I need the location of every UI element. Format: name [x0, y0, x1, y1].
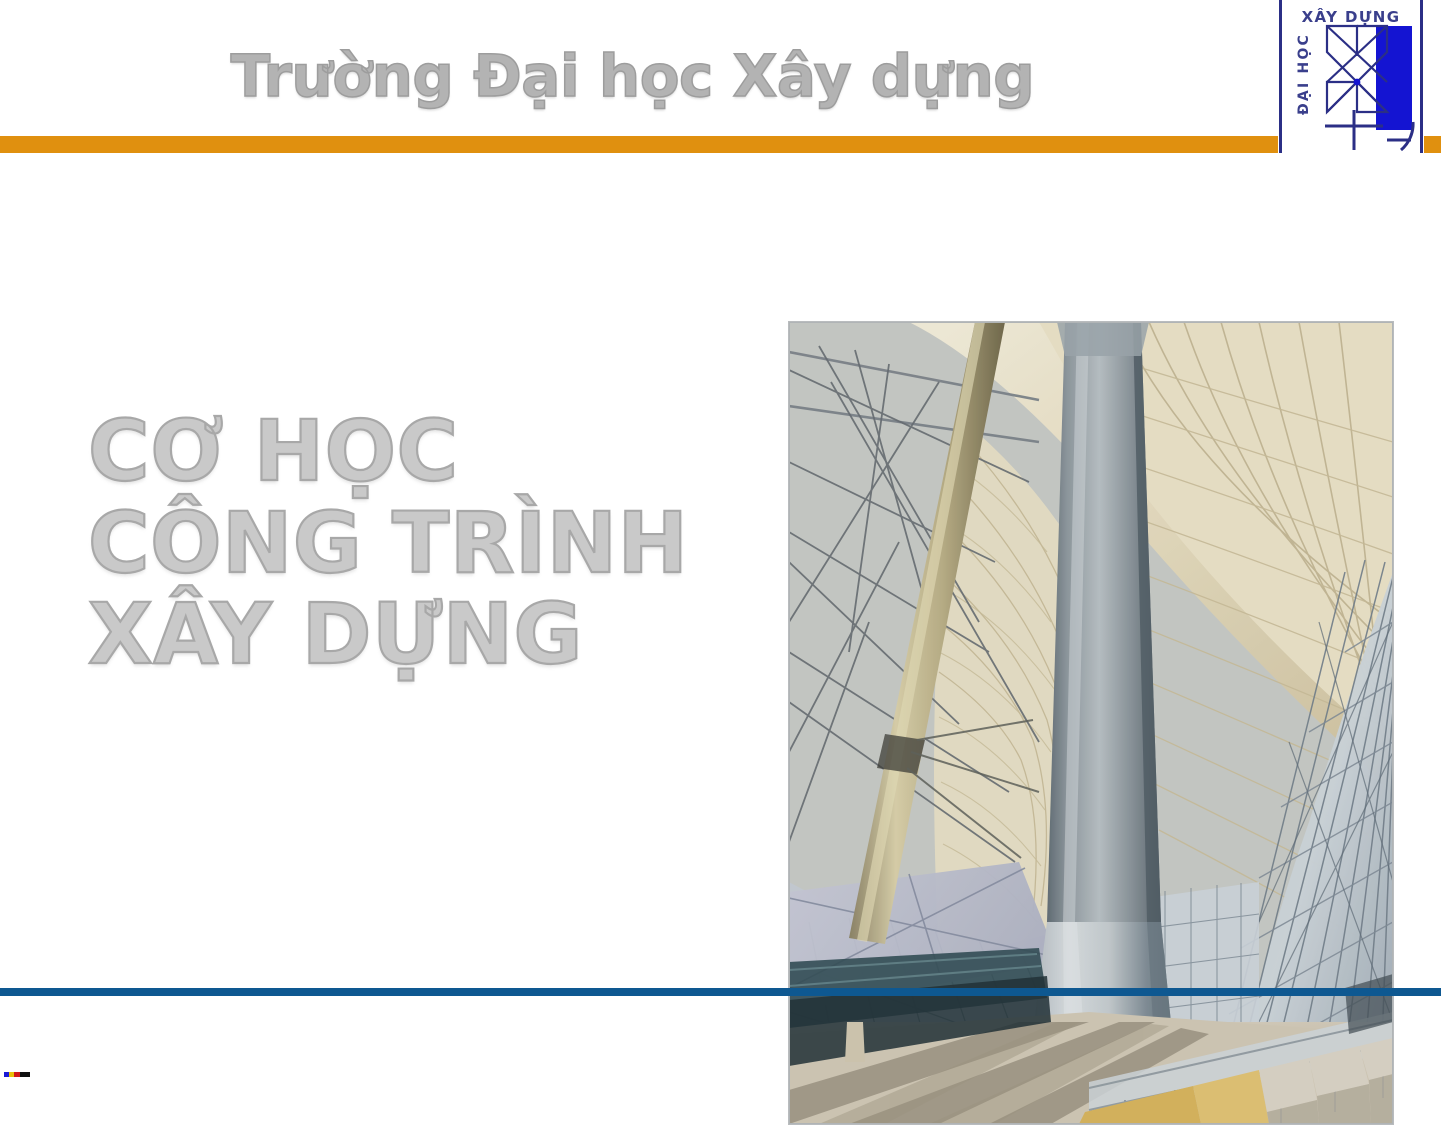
svg-text:ĐẠI HỌC: ĐẠI HỌC	[1296, 33, 1312, 115]
header-divider-right	[1424, 136, 1441, 153]
corner-mark-swatch-5	[25, 1072, 30, 1077]
title-line-2: CÔNG TRÌNH	[88, 498, 778, 590]
slide-body: CƠ HỌC CÔNG TRÌNH XÂY DỰNG	[0, 153, 1441, 990]
slide-header: Trường Đại học Xây dựng	[0, 0, 1441, 137]
title-line-3: XÂY DỰNG	[88, 589, 778, 681]
footer-divider-cap	[0, 988, 44, 996]
university-logo-icon: XÂY DỰNG ĐẠI HỌC	[1279, 0, 1423, 160]
slide-main-title: CƠ HỌC CÔNG TRÌNH XÂY DỰNG	[88, 406, 778, 681]
header-divider-left	[0, 136, 1278, 153]
page-title: Trường Đại học Xây dựng	[0, 42, 1265, 110]
corner-color-mark	[4, 1072, 30, 1077]
title-line-1: CƠ HỌC	[88, 406, 778, 498]
university-logo: XÂY DỰNG ĐẠI HỌC	[1279, 0, 1423, 160]
svg-text:XÂY DỰNG: XÂY DỰNG	[1302, 7, 1401, 26]
footer-divider	[0, 988, 1441, 996]
atrium-photo-graphic	[789, 322, 1393, 1124]
presentation-slide: Trường Đại học Xây dựng XÂY DỰNG ĐẠI HỌC	[0, 0, 1441, 1081]
atrium-interior-photograph	[788, 321, 1394, 1125]
